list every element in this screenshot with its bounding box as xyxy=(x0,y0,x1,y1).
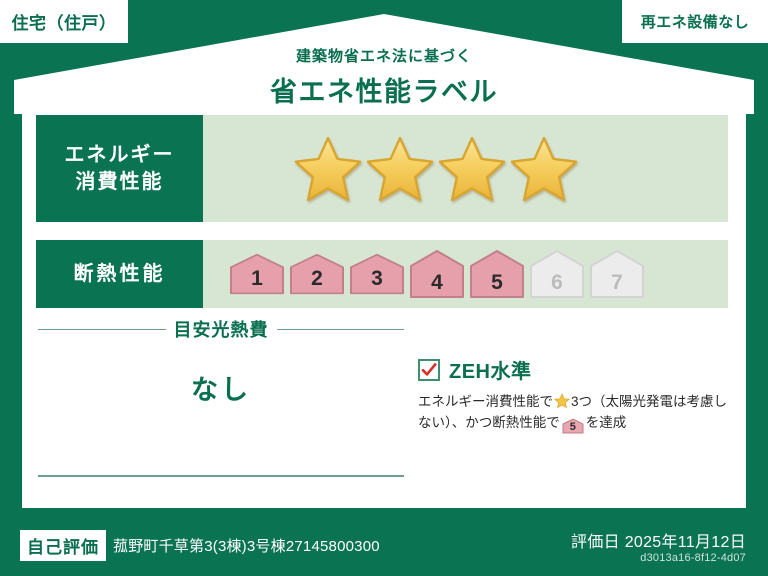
insulation-badge-inline: 5 xyxy=(562,418,584,434)
insulation-label: 断熱性能 xyxy=(36,240,203,308)
utility-cost-title: 目安光熱費 xyxy=(174,316,269,342)
utility-cost-heading: 目安光熱費 xyxy=(38,318,404,340)
energy-performance-label: 住宅（住戸） 再エネ設備なし 建築物省エネ法に基づく 省エネ性能ラベル エネルギ… xyxy=(0,0,768,576)
zeh-title-row: ZEH水準 xyxy=(418,355,730,384)
insulation-level-scale: 1234567 xyxy=(203,240,728,308)
evaluation-date: 評価日 2025年11月12日 xyxy=(571,528,746,552)
divider-left xyxy=(38,329,166,330)
insulation-performance-row: 断熱性能 1234567 xyxy=(36,240,728,308)
star-icon-filled xyxy=(436,134,508,204)
zeh-description: エネルギー消費性能で3つ（太陽光発電は考慮しない）、かつ断熱性能で5を達成 xyxy=(418,392,730,434)
utility-cost-bottom-divider xyxy=(38,475,404,477)
insulation-badge-inline-value: 5 xyxy=(570,422,576,434)
insulation-level-value: 7 xyxy=(611,271,623,295)
checkbox-zeh[interactable] xyxy=(418,359,440,381)
energy-star-rating xyxy=(203,115,728,222)
star-icon-filled xyxy=(364,134,436,204)
star-icon-filled xyxy=(292,134,364,204)
energy-label-line-1: エネルギー xyxy=(65,142,175,169)
property-name: 菰野町千草第3(3棟)3号棟27145800300 xyxy=(113,535,380,556)
footer: 自己評価 菰野町千草第3(3棟)3号棟27145800300 評価日 2025年… xyxy=(0,508,768,576)
utility-cost-value: なし xyxy=(38,368,404,407)
self-evaluation-badge: 自己評価 xyxy=(20,530,106,561)
star-icon-inline xyxy=(554,393,570,409)
zeh-title-text: ZEH水準 xyxy=(449,355,532,384)
insulation-level-value: 6 xyxy=(551,271,563,295)
insulation-level-value: 1 xyxy=(251,267,263,291)
insulation-level-value: 3 xyxy=(371,267,383,291)
insulation-level-badge-5: 5 xyxy=(469,249,525,299)
energy-consumption-row: エネルギー 消費性能 xyxy=(36,115,728,222)
insulation-level-badge-3: 3 xyxy=(349,253,405,295)
insulation-level-badge-1: 1 xyxy=(229,253,285,295)
insulation-level-value: 4 xyxy=(431,271,443,295)
zeh-standard-block: ZEH水準 エネルギー消費性能で3つ（太陽光発電は考慮しない）、かつ断熱性能で5… xyxy=(418,355,730,434)
zeh-desc-part-1: エネルギー消費性能で xyxy=(418,394,553,409)
divider-right xyxy=(277,329,405,330)
energy-label-line-2: 消費性能 xyxy=(76,169,164,196)
evaluation-id: d3013a16-8f12-4d07 xyxy=(640,552,746,564)
insulation-level-value: 5 xyxy=(491,271,503,295)
check-icon xyxy=(421,362,437,378)
insulation-level-badge-4: 4 xyxy=(409,249,465,299)
badge-building-type: 住宅（住戸） xyxy=(0,0,128,43)
insulation-level-badge-6: 6 xyxy=(529,249,585,299)
energy-consumption-label: エネルギー 消費性能 xyxy=(36,115,203,222)
insulation-label-text: 断熱性能 xyxy=(74,261,166,288)
badge-renewable-energy: 再エネ設備なし xyxy=(622,0,768,43)
zeh-desc-part-3: を達成 xyxy=(586,415,627,430)
insulation-level-badge-2: 2 xyxy=(289,253,345,295)
star-icon-filled xyxy=(508,134,580,204)
insulation-level-value: 2 xyxy=(311,267,323,291)
insulation-level-badge-7: 7 xyxy=(589,249,645,299)
